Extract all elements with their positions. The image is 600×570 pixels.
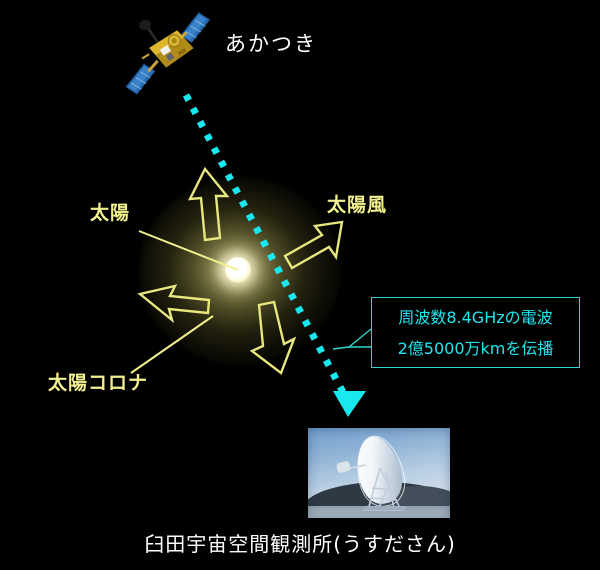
spacecraft-label: あかつき [225,28,317,58]
parabolic-antenna-icon [308,428,450,518]
radio-wave-callout: 周波数8.4GHzの電波 2億5000万kmを伝播 [371,297,580,368]
corona-leader-line [131,316,213,373]
solar-corona-label: 太陽コロナ [48,368,148,395]
sun-leader-line [139,231,238,270]
callout-line-distance: 2億5000万kmを伝播 [398,333,554,364]
sun-label: 太陽 [90,198,130,225]
callout-line-frequency: 周波数8.4GHzの電波 [398,302,552,333]
callout-tail [349,329,371,347]
diagram-vectors [0,0,600,570]
solar-wind-arrow-icon [140,169,342,373]
diagram-canvas: あかつき 太陽 太陽風 太陽コロナ 周波数8.4GHzの電波 2億5000万km… [0,0,600,570]
photo-vignette [308,428,450,518]
photo-caption: 臼田宇宙空間観測所(うすださん) [144,528,456,557]
solar-wind-label: 太陽風 [327,190,387,217]
callout-tail-tip [333,347,349,349]
